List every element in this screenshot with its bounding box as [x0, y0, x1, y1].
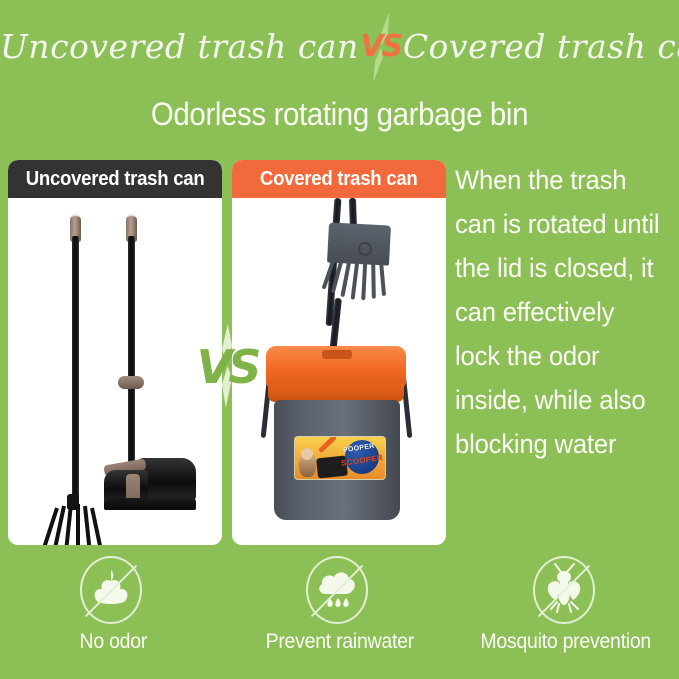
feature-mosquito-prevention: Mosquito prevention	[453, 556, 679, 666]
rake-handle-shaft	[72, 236, 79, 498]
product-comparison-poster: Uncovered trash canVSCovered trash can O…	[0, 0, 679, 679]
covered-product-stage: POOPER SCOOPER	[232, 198, 446, 545]
pan-handle-shaft	[128, 236, 135, 486]
description-body: When the trash can is rotated until the …	[455, 158, 664, 466]
pan-handle-collar	[118, 376, 144, 389]
grey-rake-tine	[340, 261, 351, 297]
feature-no-odor: No odor	[0, 556, 226, 666]
feature-mosquito-prevention-label: Mosquito prevention	[481, 630, 652, 654]
description-text: When the trash can is rotated until the …	[455, 158, 675, 466]
panel-uncovered-trash-can: Uncovered trash can	[8, 160, 222, 545]
product-label-sticker: POOPER SCOOPER	[294, 436, 386, 480]
uncovered-product-stage	[8, 198, 222, 545]
feature-label: Mosquito prevention	[474, 630, 657, 654]
rake-tine	[90, 508, 103, 545]
rake-head	[53, 494, 99, 545]
bin-lid-slot	[322, 350, 352, 359]
grey-rake-tine	[379, 263, 386, 296]
badge-covered-label: Covered trash can	[260, 160, 418, 198]
grey-rake-tine	[361, 262, 367, 300]
header-left-text: Uncovered trash can	[0, 24, 359, 70]
rake-tine	[76, 504, 80, 545]
grey-rake-tine	[371, 263, 376, 299]
rake-tine	[64, 504, 73, 545]
versus-divider: VS	[196, 326, 258, 406]
badge-covered: Covered trash can	[232, 160, 446, 198]
header-right-text: Covered trash can	[403, 24, 679, 70]
no-odor-icon	[80, 556, 146, 626]
header-vs-badge: VS	[359, 18, 403, 76]
grey-rake-tine	[351, 262, 360, 300]
dustpan-front	[104, 498, 196, 510]
versus-label: VS	[196, 340, 258, 394]
panel-covered-trash-can: Covered trash can	[232, 160, 446, 545]
header-vs-label: VS	[359, 24, 403, 70]
feature-list: No odor Prevent rainwater	[0, 556, 679, 666]
badge-uncovered: Uncovered trash can	[8, 160, 222, 198]
rake-hole-icon	[358, 242, 372, 256]
no-mosquito-icon	[533, 556, 599, 626]
no-rain-icon	[306, 556, 372, 626]
feature-no-odor-label: No odor	[79, 630, 147, 654]
badge-uncovered-label: Uncovered trash can	[26, 160, 205, 198]
dog-illustration-icon	[299, 451, 316, 477]
feature-prevent-rainwater-label: Prevent rainwater	[265, 630, 413, 654]
feature-prevent-rainwater: Prevent rainwater	[226, 556, 452, 666]
header-title: Uncovered trash canVSCovered trash can	[0, 18, 679, 76]
page-subtitle: Odorless rotating garbage bin	[27, 96, 652, 133]
feature-label: No odor	[77, 630, 150, 654]
feature-label: Prevent rainwater	[260, 630, 419, 654]
